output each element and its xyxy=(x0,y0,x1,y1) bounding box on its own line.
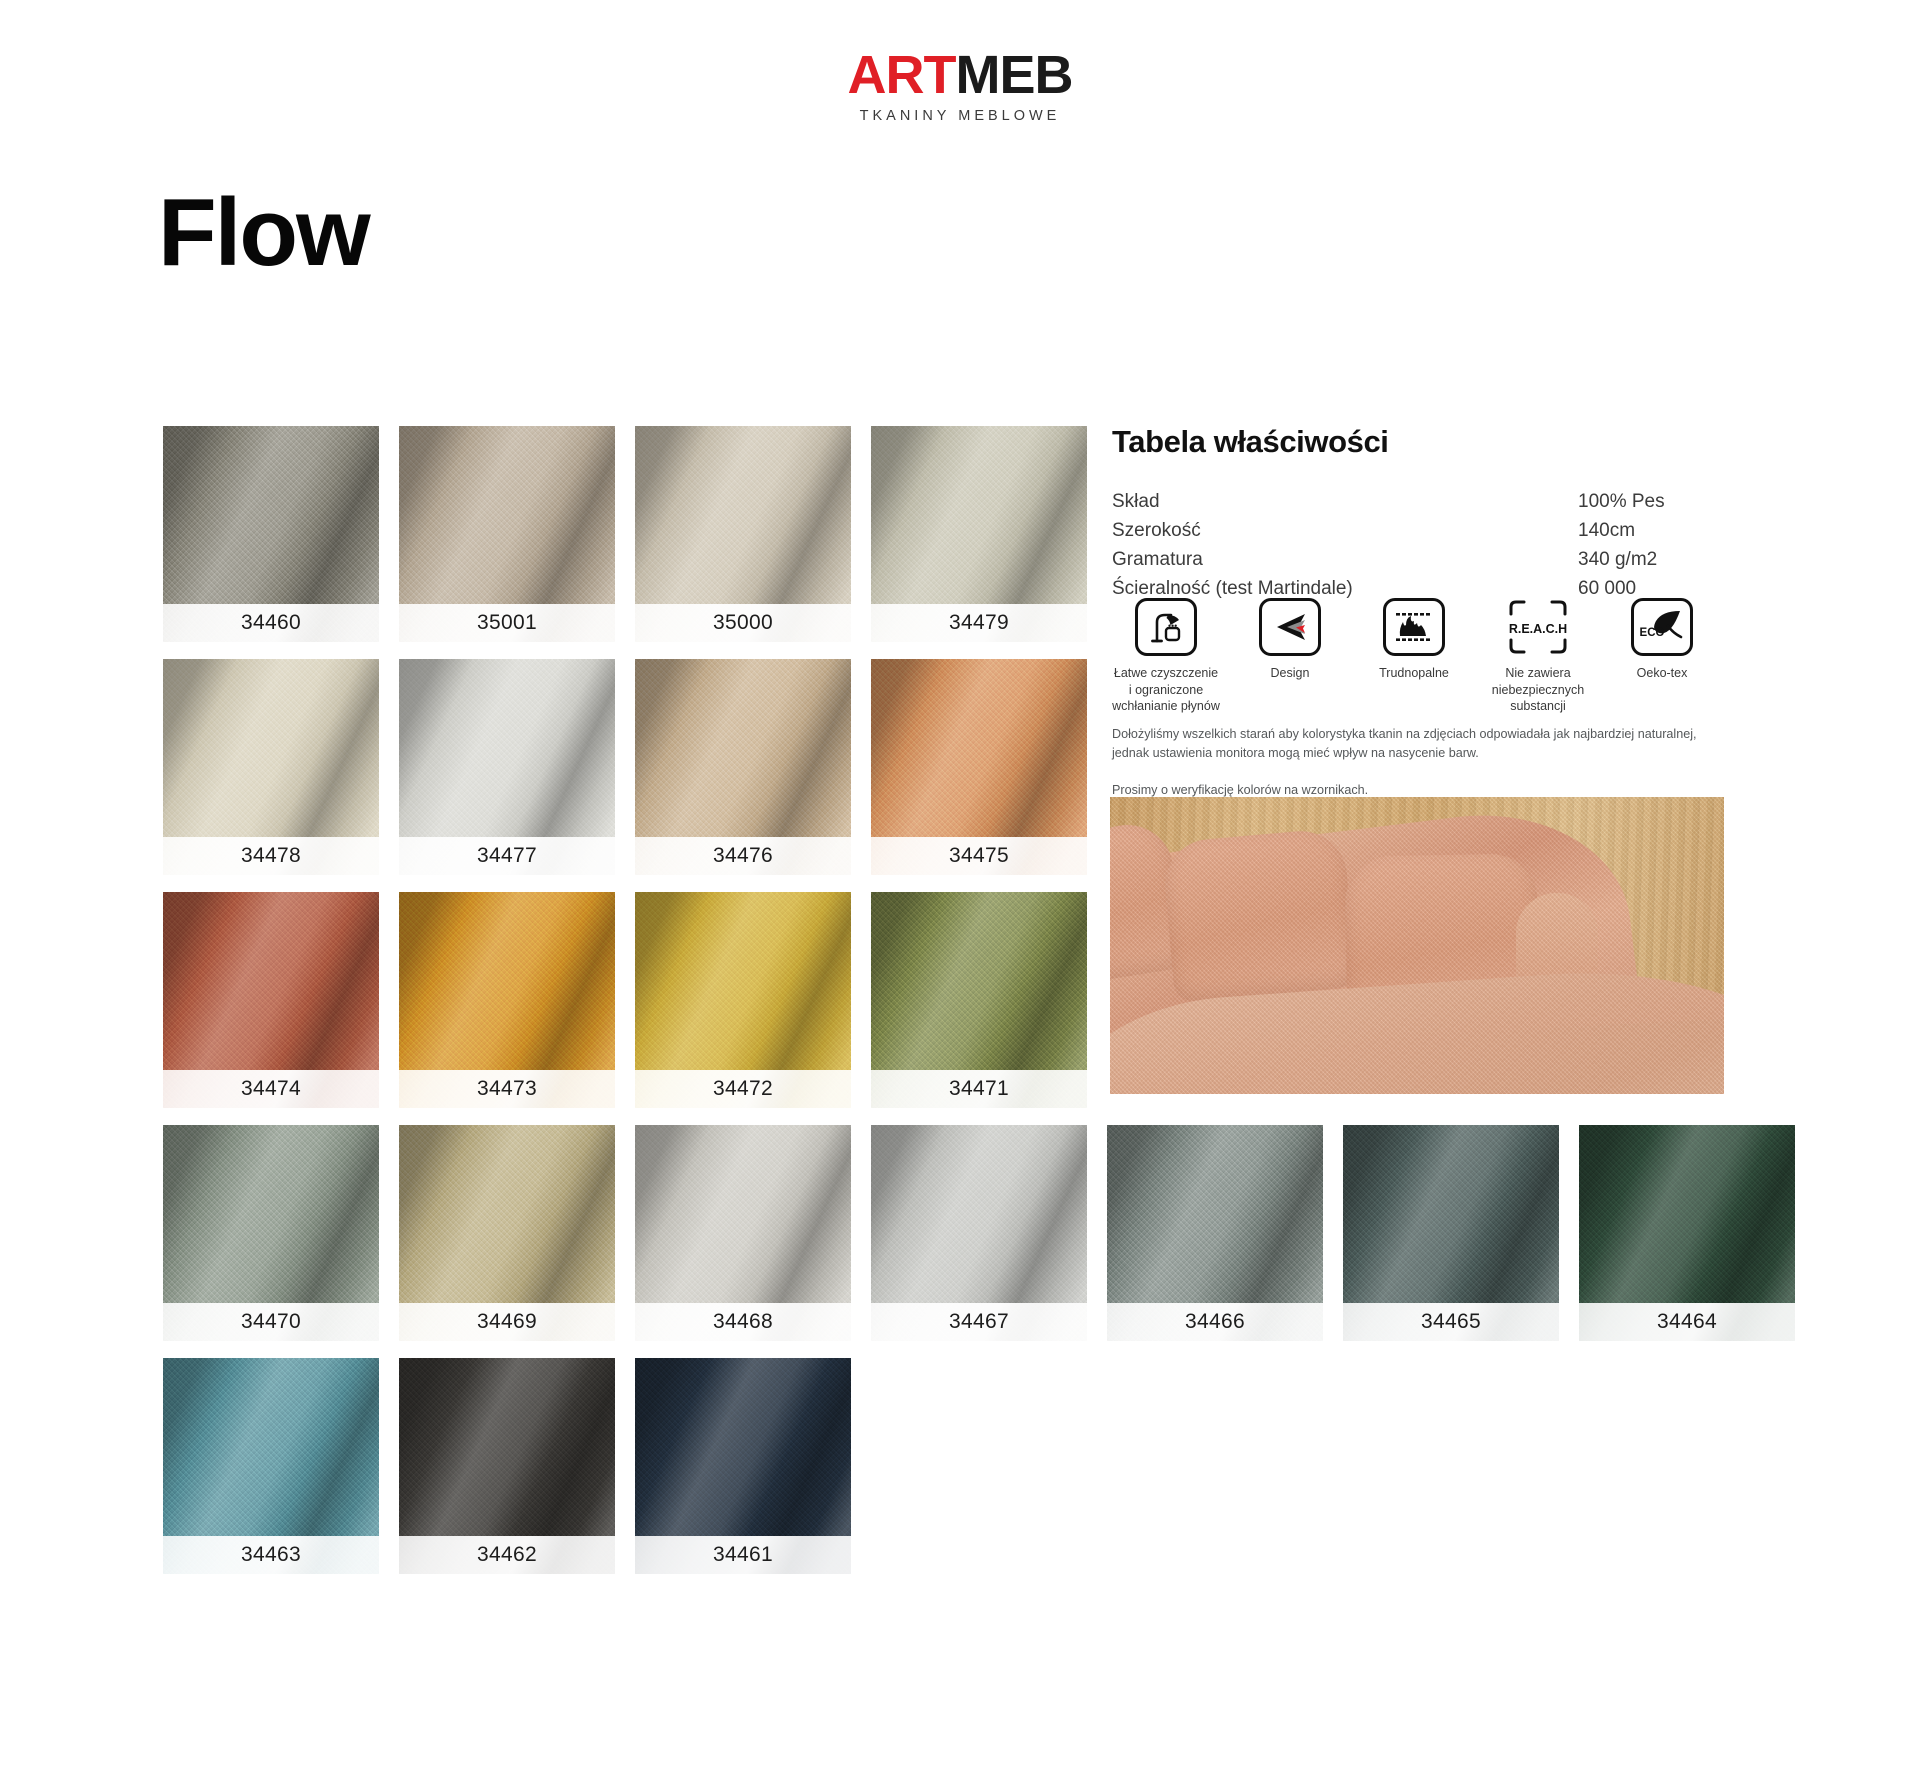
swatch-code-band: 34479 xyxy=(871,604,1087,642)
swatch-code: 34468 xyxy=(713,1310,773,1334)
fabric-swatch[interactable]: 34464 xyxy=(1579,1125,1795,1341)
swatch-code: 34462 xyxy=(477,1543,537,1567)
reach-certificate-icon: R.E.A.C.H xyxy=(1507,598,1569,656)
fabric-swatch[interactable]: 34462 xyxy=(399,1358,615,1574)
logo-tagline: TKANINY MEBLOWE xyxy=(0,108,1920,124)
swatch-code-band: 34461 xyxy=(635,1536,851,1574)
properties-table: Tabela właściwości Skład 100% Pes Szerok… xyxy=(1112,424,1732,604)
swatch-code-band: 34476 xyxy=(635,837,851,875)
certification-item: Łatwe czyszczenie i ograniczone wchłania… xyxy=(1112,598,1220,715)
swatch-code: 34479 xyxy=(949,611,1009,635)
fabric-swatch[interactable]: 34469 xyxy=(399,1125,615,1341)
color-disclaimer: Dołożyliśmy wszelkich starań aby kolorys… xyxy=(1112,725,1726,800)
fabric-swatch[interactable]: 34477 xyxy=(399,659,615,875)
spec-label: Szerokość xyxy=(1112,517,1578,546)
swatch-code-band: 34470 xyxy=(163,1303,379,1341)
swatch-code: 34474 xyxy=(241,1077,301,1101)
swatch-code: 34478 xyxy=(241,844,301,868)
fabric-swatch[interactable]: 34475 xyxy=(871,659,1087,875)
logo-wordmark: ARTMEB xyxy=(0,48,1920,102)
sofa-photo xyxy=(1110,797,1724,1094)
page-title: Flow xyxy=(158,185,369,281)
fabric-swatch[interactable]: 34468 xyxy=(635,1125,851,1341)
swatch-row-3: 34474 34473 34472 34471 xyxy=(163,892,1253,1108)
swatch-row-5: 34463 34462 34461 xyxy=(163,1358,1253,1574)
swatch-code-band: 34471 xyxy=(871,1070,1087,1108)
swatch-code: 34470 xyxy=(241,1310,301,1334)
certification-caption: Design xyxy=(1236,665,1344,682)
logo-art-text: ART xyxy=(848,45,956,105)
vacuum-cleaner-icon xyxy=(1135,598,1197,656)
fabric-swatch[interactable]: 34479 xyxy=(871,426,1087,642)
spec-row: Szerokość 140cm xyxy=(1112,517,1732,546)
fabric-swatch[interactable]: 34471 xyxy=(871,892,1087,1108)
swatch-code: 34472 xyxy=(713,1077,773,1101)
properties-heading: Tabela właściwości xyxy=(1112,424,1732,460)
eco-leaf-icon: ECO xyxy=(1631,598,1693,656)
fabric-swatch[interactable]: 35001 xyxy=(399,426,615,642)
swatch-code-band: 35001 xyxy=(399,604,615,642)
certification-item: ECO Oeko-tex xyxy=(1608,598,1716,715)
fabric-swatch[interactable]: 34470 xyxy=(163,1125,379,1341)
fabric-swatch[interactable]: 34461 xyxy=(635,1358,851,1574)
certification-caption: Trudnopalne xyxy=(1360,665,1468,682)
spec-label: Skład xyxy=(1112,488,1578,517)
spec-value: 100% Pes xyxy=(1578,488,1732,517)
swatch-code-band: 34460 xyxy=(163,604,379,642)
swatch-code-band: 35000 xyxy=(635,604,851,642)
design-arrow-icon xyxy=(1259,598,1321,656)
swatch-code: 34461 xyxy=(713,1543,773,1567)
swatch-code-band: 34468 xyxy=(635,1303,851,1341)
swatch-code-band: 34462 xyxy=(399,1536,615,1574)
swatch-code-band: 34465 xyxy=(1343,1303,1559,1341)
swatch-code: 34469 xyxy=(477,1310,537,1334)
fabric-catalog-page: ARTMEB TKANINY MEBLOWE Flow 34460 35001 … xyxy=(0,0,1920,1768)
fabric-swatch[interactable]: 34478 xyxy=(163,659,379,875)
swatch-code-band: 34463 xyxy=(163,1536,379,1574)
swatch-code: 34476 xyxy=(713,844,773,868)
brand-logo: ARTMEB TKANINY MEBLOWE xyxy=(0,48,1920,124)
svg-text:ECO: ECO xyxy=(1640,627,1665,639)
fabric-swatch[interactable]: 34465 xyxy=(1343,1125,1559,1341)
spec-row: Skład 100% Pes xyxy=(1112,488,1732,517)
certification-item: Trudnopalne xyxy=(1360,598,1468,715)
disclaimer-paragraph-1: Dołożyliśmy wszelkich starań aby kolorys… xyxy=(1112,725,1726,763)
swatch-code: 34473 xyxy=(477,1077,537,1101)
swatch-row-1: 34460 35001 35000 34479 xyxy=(163,426,1253,642)
certification-caption: Oeko-tex xyxy=(1608,665,1716,682)
swatch-code-band: 34466 xyxy=(1107,1303,1323,1341)
sofa-cushion xyxy=(1161,827,1356,1002)
certification-icons: Łatwe czyszczenie i ograniczone wchłania… xyxy=(1112,598,1752,715)
swatch-code: 34466 xyxy=(1185,1310,1245,1334)
fabric-swatch[interactable]: 34466 xyxy=(1107,1125,1323,1341)
certification-item: R.E.A.C.H Nie zawiera niebezpiecznych su… xyxy=(1484,598,1592,715)
fabric-swatch[interactable]: 34474 xyxy=(163,892,379,1108)
swatch-code-band: 34473 xyxy=(399,1070,615,1108)
fabric-swatch[interactable]: 35000 xyxy=(635,426,851,642)
certification-item: Design xyxy=(1236,598,1344,715)
swatch-code: 34465 xyxy=(1421,1310,1481,1334)
swatch-code-band: 34478 xyxy=(163,837,379,875)
spec-row: Gramatura 340 g/m2 xyxy=(1112,546,1732,575)
certification-caption: Nie zawiera niebezpiecznych substancji xyxy=(1484,665,1592,715)
svg-text:R.E.A.C.H: R.E.A.C.H xyxy=(1509,622,1567,636)
logo-meb-text: MEB xyxy=(955,45,1072,105)
swatch-code: 34463 xyxy=(241,1543,301,1567)
flame-icon xyxy=(1383,598,1445,656)
swatch-grid: 34460 35001 35000 34479 34478 3447 xyxy=(163,426,1253,1591)
swatch-code-band: 34472 xyxy=(635,1070,851,1108)
swatch-code: 34467 xyxy=(949,1310,1009,1334)
fabric-swatch[interactable]: 34460 xyxy=(163,426,379,642)
fabric-swatch[interactable]: 34473 xyxy=(399,892,615,1108)
spec-value: 140cm xyxy=(1578,517,1732,546)
swatch-code: 34477 xyxy=(477,844,537,868)
swatch-code: 34471 xyxy=(949,1077,1009,1101)
swatch-code: 34460 xyxy=(241,611,301,635)
spec-value: 340 g/m2 xyxy=(1578,546,1732,575)
spec-label: Gramatura xyxy=(1112,546,1578,575)
fabric-swatch[interactable]: 34463 xyxy=(163,1358,379,1574)
swatch-code-band: 34469 xyxy=(399,1303,615,1341)
swatch-code-band: 34474 xyxy=(163,1070,379,1108)
swatch-row-2: 34478 34477 34476 34475 xyxy=(163,659,1253,875)
swatch-code: 35001 xyxy=(477,611,537,635)
swatch-code: 35000 xyxy=(713,611,773,635)
swatch-row-4: 34470 34469 34468 34467 34466 34465 xyxy=(163,1125,1723,1341)
certification-caption: Łatwe czyszczenie i ograniczone wchłania… xyxy=(1112,665,1220,715)
swatch-code: 34475 xyxy=(949,844,1009,868)
fabric-swatch[interactable]: 34467 xyxy=(871,1125,1087,1341)
fabric-swatch[interactable]: 34476 xyxy=(635,659,851,875)
swatch-code: 34464 xyxy=(1657,1310,1717,1334)
swatch-code-band: 34464 xyxy=(1579,1303,1795,1341)
swatch-code-band: 34475 xyxy=(871,837,1087,875)
swatch-code-band: 34477 xyxy=(399,837,615,875)
swatch-code-band: 34467 xyxy=(871,1303,1087,1341)
fabric-swatch[interactable]: 34472 xyxy=(635,892,851,1108)
